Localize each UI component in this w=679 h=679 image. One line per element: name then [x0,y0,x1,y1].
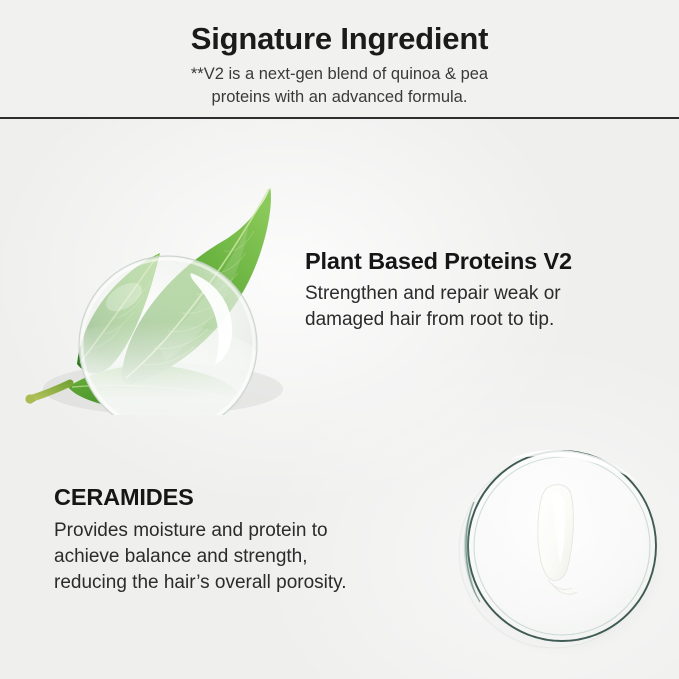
feature-body-plant-based-proteins: Strengthen and repair weak or damaged ha… [305,281,665,333]
glass-petri-dish-with-cream-image [444,432,676,662]
feature-body-line-1: Strengthen and repair weak or [305,281,665,307]
feature-heading-plant-based-proteins: Plant Based Proteins V2 [305,248,665,275]
feature-body-line-2: achieve balance and strength, [54,544,434,570]
feature-heading-ceramides: CERAMIDES [54,484,434,511]
feature-body-line-2: damaged hair from root to tip. [305,307,665,333]
leaf-stem-node [25,394,34,403]
feature-body-ceramides: Provides moisture and protein to achieve… [54,518,434,597]
feature-body-line-1: Provides moisture and protein to [54,518,434,544]
feature-body-line-3: reducing the hair’s overall porosity. [54,570,434,596]
header-band: Signature Ingredient **V2 is a next-gen … [0,0,679,118]
header-subtitle-line-2: proteins with an advanced formula. [0,86,679,109]
green-leaves-with-water-droplet-image [8,145,308,415]
feature-block-ceramides: CERAMIDES Provides moisture and protein … [54,484,434,597]
header-subtitle-line-1: **V2 is a next-gen blend of quinoa & pea [0,63,679,86]
ingredient-infographic-page: Signature Ingredient **V2 is a next-gen … [0,0,679,679]
feature-block-plant-based-proteins: Plant Based Proteins V2 Strengthen and r… [305,248,665,333]
header-subtitle: **V2 is a next-gen blend of quinoa & pea… [0,63,679,110]
page-title: Signature Ingredient [0,22,679,56]
